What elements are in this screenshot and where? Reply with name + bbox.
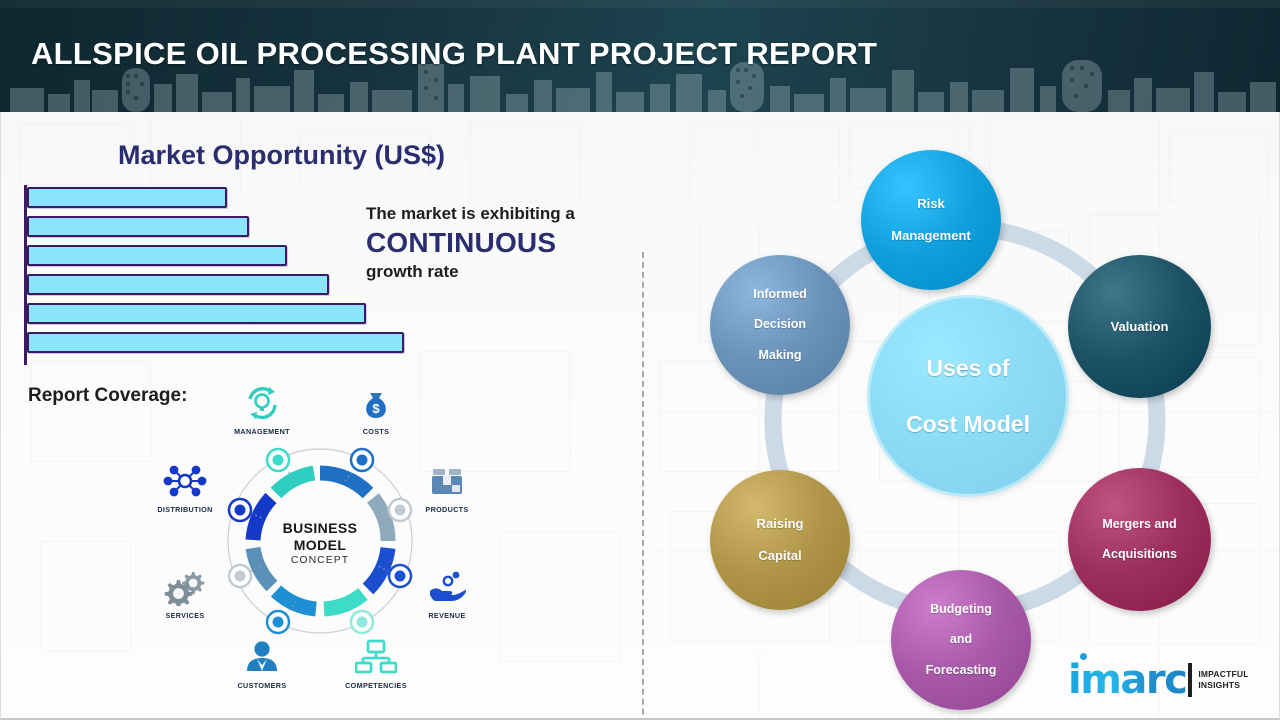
bm-title-line2: MODEL bbox=[294, 537, 347, 553]
report-header: ALLSPICE OIL PROCESSING PLANT PROJECT RE… bbox=[0, 0, 1280, 112]
market-opportunity-title: Market Opportunity (US$) bbox=[118, 140, 445, 171]
node-budget-line2: and bbox=[920, 632, 1003, 647]
table-row bbox=[27, 332, 404, 353]
slide-root: ALLSPICE OIL PROCESSING PLANT PROJECT RE… bbox=[0, 0, 1280, 720]
table-row bbox=[27, 216, 249, 237]
coverage-item-distribution: DISTRIBUTION bbox=[148, 460, 222, 514]
callout-line-1: The market is exhibiting a bbox=[366, 203, 636, 224]
node-risk-management-line1: Risk bbox=[885, 196, 976, 212]
coverage-item-products: PRODUCTS bbox=[410, 460, 484, 514]
uses-of-cost-model-diagram: Risk Management Valuation Mergers and Ac… bbox=[648, 112, 1280, 720]
logo-tagline: IMPACTFUL INSIGHTS bbox=[1198, 669, 1248, 690]
coverage-label-costs: COSTS bbox=[339, 427, 413, 436]
coverage-label-distribution: DISTRIBUTION bbox=[148, 505, 222, 514]
node-valuation[interactable]: Valuation bbox=[1068, 255, 1211, 398]
node-informed-line2: Decision bbox=[747, 317, 812, 332]
node-budget-line1: Budgeting bbox=[920, 602, 1003, 617]
node-valuation-label: Valuation bbox=[1105, 319, 1175, 335]
lightbulb-recycle-icon bbox=[225, 382, 299, 424]
coverage-item-customers: CUSTOMERS bbox=[225, 636, 299, 690]
logo-dot-icon bbox=[1080, 653, 1087, 660]
callout-line-3: growth rate bbox=[366, 262, 636, 282]
node-risk-management[interactable]: Risk Management bbox=[861, 150, 1001, 290]
coverage-item-management: MANAGEMENT bbox=[225, 382, 299, 436]
business-model-center-subtitle: CONCEPT bbox=[150, 554, 490, 566]
business-model-diagram: BUSINESS MODEL CONCEPT bbox=[150, 378, 490, 700]
coverage-label-customers: CUSTOMERS bbox=[225, 681, 299, 690]
hand-coins-icon bbox=[410, 566, 484, 608]
page-title: ALLSPICE OIL PROCESSING PLANT PROJECT RE… bbox=[31, 36, 877, 72]
node-risk-management-line2: Management bbox=[885, 228, 976, 244]
node-mna-line2: Acquisitions bbox=[1096, 547, 1183, 562]
svg-text:$: $ bbox=[372, 401, 380, 416]
user-person-icon bbox=[225, 636, 299, 678]
table-row bbox=[27, 187, 227, 208]
callout-emphasis: CONTINUOUS bbox=[366, 224, 636, 262]
node-informed-line1: Informed bbox=[747, 287, 812, 302]
growth-callout: The market is exhibiting a CONTINUOUS gr… bbox=[366, 203, 636, 282]
coverage-item-competencies: COMPETENCIES bbox=[339, 636, 413, 690]
coverage-item-services: SERVICES bbox=[148, 566, 222, 620]
coverage-item-costs: $ COSTS bbox=[339, 382, 413, 436]
network-nodes-icon bbox=[148, 460, 222, 502]
package-box-icon bbox=[410, 460, 484, 502]
table-row bbox=[27, 303, 366, 324]
bm-title-line1: BUSINESS bbox=[283, 520, 358, 536]
coverage-label-revenue: REVENUE bbox=[410, 611, 484, 620]
coverage-label-management: MANAGEMENT bbox=[225, 427, 299, 436]
logo-wordmark: imarc bbox=[1068, 660, 1186, 700]
logo-tagline-line2: INSIGHTS bbox=[1198, 680, 1248, 691]
coverage-label-services: SERVICES bbox=[148, 611, 222, 620]
node-budgeting-and-forecasting[interactable]: Budgeting and Forecasting bbox=[891, 570, 1031, 710]
logo-tagline-line1: IMPACTFUL bbox=[1198, 669, 1248, 680]
center-line2: Cost Model bbox=[900, 410, 1036, 438]
coverage-label-products: PRODUCTS bbox=[410, 505, 484, 514]
node-raising-line1: Raising bbox=[751, 516, 810, 532]
coverage-label-competencies: COMPETENCIES bbox=[339, 681, 413, 690]
money-bag-icon: $ bbox=[339, 382, 413, 424]
node-budget-line3: Forecasting bbox=[920, 663, 1003, 678]
network-computers-icon bbox=[339, 636, 413, 678]
panel-divider bbox=[642, 252, 644, 720]
business-model-center-title: BUSINESS MODEL bbox=[150, 520, 490, 553]
table-row bbox=[27, 274, 329, 295]
header-top-strip bbox=[0, 0, 1280, 8]
node-informed-line3: Making bbox=[747, 348, 812, 363]
node-raising-line2: Capital bbox=[751, 548, 810, 564]
coverage-item-revenue: REVENUE bbox=[410, 566, 484, 620]
node-uses-of-cost-model: Uses of Cost Model bbox=[870, 298, 1066, 494]
node-mergers-and-acquisitions[interactable]: Mergers and Acquisitions bbox=[1068, 468, 1211, 611]
logo-divider bbox=[1188, 663, 1192, 697]
center-line1: Uses of bbox=[900, 354, 1036, 382]
imarc-logo: imarc IMPACTFUL INSIGHTS bbox=[1068, 660, 1249, 700]
table-row bbox=[27, 245, 287, 266]
market-opportunity-bar-chart bbox=[24, 185, 404, 365]
gears-icon bbox=[148, 566, 222, 608]
node-mna-line1: Mergers and bbox=[1096, 517, 1183, 532]
node-raising-capital[interactable]: Raising Capital bbox=[710, 470, 850, 610]
node-informed-decision-making[interactable]: Informed Decision Making bbox=[710, 255, 850, 395]
